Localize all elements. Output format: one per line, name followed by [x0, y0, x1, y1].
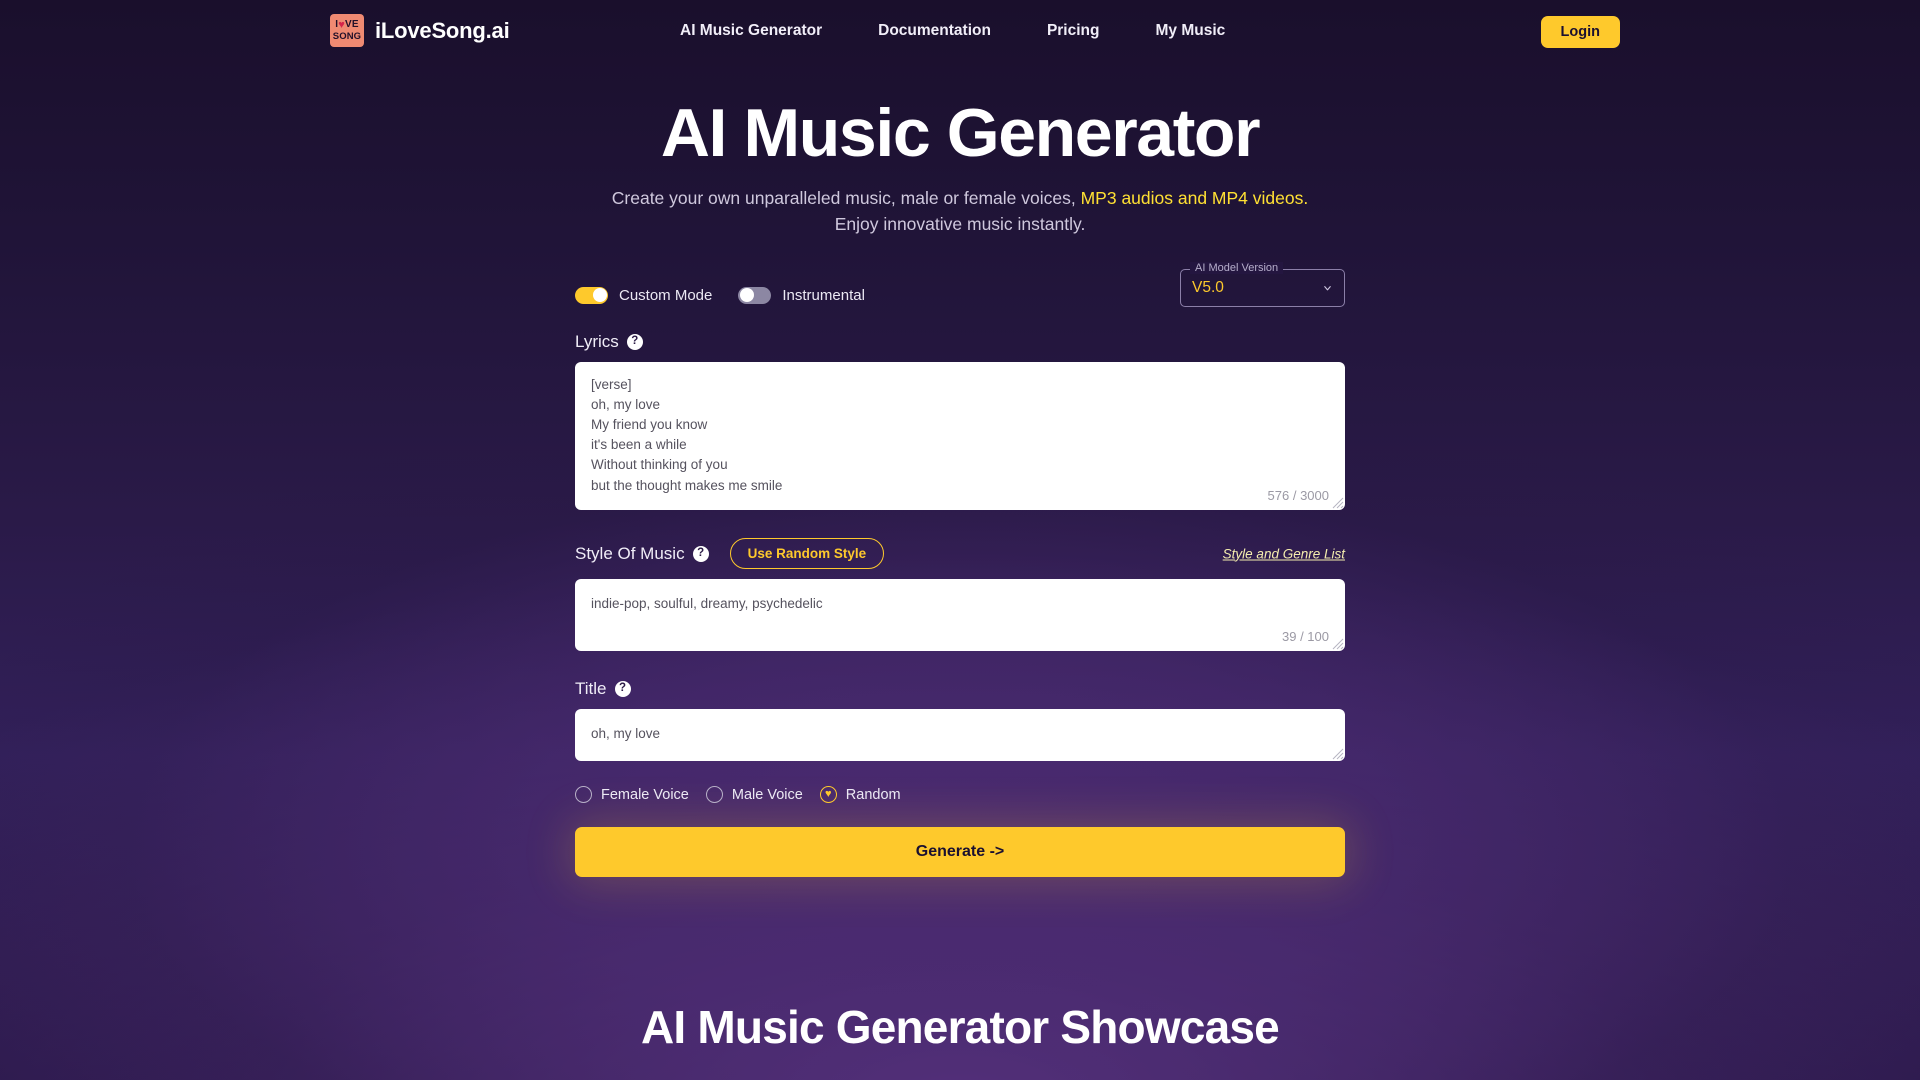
style-help-icon[interactable]: ?	[693, 546, 709, 562]
login-button[interactable]: Login	[1541, 16, 1620, 48]
page-root: I♥VE SONG iLoveSong.ai AI Music Generato…	[0, 0, 1920, 1080]
title-help-icon[interactable]: ?	[615, 681, 631, 697]
form-top-row: Custom Mode Instrumental AI Model Versio…	[575, 272, 1345, 318]
nav-item-documentation[interactable]: Documentation	[850, 18, 1019, 44]
use-random-style-button[interactable]: Use Random Style	[730, 538, 885, 569]
showcase-title: AI Music Generator Showcase	[0, 1000, 1920, 1054]
brand-logo-link[interactable]: I♥VE SONG iLoveSong.ai	[330, 14, 510, 47]
ai-model-version-select[interactable]: AI Model Version V5.0	[1180, 269, 1345, 307]
voice-option-random[interactable]: ♥ Random	[820, 786, 901, 803]
hero-subtitle-highlight: MP3 audios and MP4 videos.	[1081, 188, 1309, 208]
voice-option-female[interactable]: Female Voice	[575, 786, 689, 803]
instrumental-switch-track[interactable]	[738, 287, 771, 304]
nav-item-ai-music-generator[interactable]: AI Music Generator	[680, 18, 850, 44]
nav-item-pricing[interactable]: Pricing	[1019, 18, 1128, 44]
title-label-row: Title ?	[575, 679, 1345, 699]
lyrics-label-row: Lyrics ?	[575, 332, 1345, 352]
main-nav: AI Music Generator Documentation Pricing…	[680, 18, 1253, 44]
female-voice-label: Female Voice	[601, 787, 689, 803]
brand-name: iLoveSong.ai	[375, 18, 510, 44]
custom-mode-switch-track[interactable]	[575, 287, 608, 304]
generate-button[interactable]: Generate ->	[575, 827, 1345, 877]
lyrics-value: [verse] oh, my love My friend you know i…	[575, 362, 1345, 510]
mode-toggles: Custom Mode Instrumental	[575, 287, 865, 304]
male-voice-label: Male Voice	[732, 787, 803, 803]
title-label: Title	[575, 679, 607, 699]
generator-form: Custom Mode Instrumental AI Model Versio…	[575, 272, 1345, 877]
female-voice-radio[interactable]	[575, 786, 592, 803]
instrumental-switch-knob	[740, 288, 754, 302]
ilovesong-logo-icon: I♥VE SONG	[330, 14, 364, 47]
lyrics-help-icon[interactable]: ?	[627, 334, 643, 350]
hero-subtitle-part1: Create your own unparalleled music, male…	[612, 188, 1081, 208]
title-value: oh, my love	[575, 709, 1345, 761]
nav-item-my-music[interactable]: My Music	[1127, 18, 1253, 44]
style-input[interactable]: indie-pop, soulful, dreamy, psychedelic …	[575, 579, 1345, 651]
chevron-down-icon	[1322, 283, 1333, 294]
custom-mode-toggle[interactable]: Custom Mode	[575, 287, 712, 304]
random-voice-label: Random	[846, 787, 901, 803]
instrumental-toggle[interactable]: Instrumental	[738, 287, 865, 304]
heart-icon: ♥	[338, 20, 345, 31]
custom-mode-switch-knob	[593, 288, 607, 302]
logo-letters-ve: VE	[345, 20, 359, 30]
voice-options-group: Female Voice Male Voice ♥ Random	[575, 786, 1345, 803]
resize-handle-icon[interactable]	[1332, 497, 1344, 509]
voice-option-male[interactable]: Male Voice	[706, 786, 803, 803]
instrumental-label: Instrumental	[782, 287, 865, 304]
ai-model-version-value: V5.0	[1192, 279, 1224, 297]
male-voice-radio[interactable]	[706, 786, 723, 803]
hero-subtitle: Create your own unparalleled music, male…	[0, 185, 1920, 238]
style-counter: 39 / 100	[1282, 629, 1329, 644]
custom-mode-label: Custom Mode	[619, 287, 712, 304]
showcase-section: AI Music Generator Showcase	[0, 1000, 1920, 1054]
random-voice-radio[interactable]: ♥	[820, 786, 837, 803]
lyrics-counter: 576 / 3000	[1268, 488, 1329, 503]
style-label-group: Style Of Music ?	[575, 544, 709, 564]
style-label: Style Of Music	[575, 544, 685, 564]
logo-line-one: I♥VE	[335, 20, 358, 31]
title-resize-handle-icon[interactable]	[1332, 748, 1344, 760]
hero-section: AI Music Generator Create your own unpar…	[0, 96, 1920, 238]
ai-model-version-legend: AI Model Version	[1190, 262, 1283, 274]
heart-selected-icon: ♥	[825, 789, 832, 800]
hero-subtitle-line2: Enjoy innovative music instantly.	[835, 214, 1086, 234]
logo-line-two: SONG	[333, 32, 361, 42]
style-resize-handle-icon[interactable]	[1332, 638, 1344, 650]
title-input[interactable]: oh, my love	[575, 709, 1345, 761]
page-title: AI Music Generator	[0, 96, 1920, 171]
style-and-genre-list-link[interactable]: Style and Genre List	[1223, 546, 1345, 561]
lyrics-input[interactable]: [verse] oh, my love My friend you know i…	[575, 362, 1345, 510]
style-label-row: Style Of Music ? Use Random Style Style …	[575, 538, 1345, 569]
lyrics-label: Lyrics	[575, 332, 619, 352]
style-value: indie-pop, soulful, dreamy, psychedelic	[575, 579, 1345, 651]
site-header: I♥VE SONG iLoveSong.ai AI Music Generato…	[0, 0, 1920, 68]
